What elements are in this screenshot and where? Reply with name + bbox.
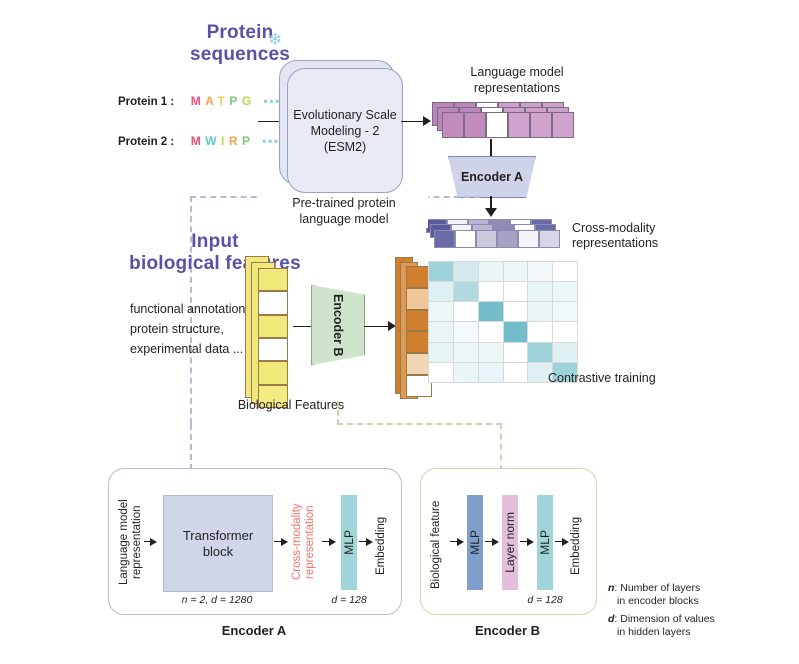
- encoder-b-input-label: Biological feature: [430, 495, 448, 595]
- matrix-cell: [429, 262, 453, 281]
- matrix-cell: [479, 363, 503, 382]
- encoder-b-layernorm-bar: Layer norm: [502, 495, 518, 590]
- encoder-b-dashed-right: [500, 423, 502, 471]
- arrow-b-4: [562, 538, 569, 546]
- label-feature-examples: functional annotation, protein structure…: [130, 299, 330, 359]
- encoder-b-mlp2-label: MLP: [539, 530, 552, 555]
- matrix-cell: [429, 302, 453, 321]
- matrix-cell: [553, 343, 577, 362]
- encoder-b-trapezoid[interactable]: Encoder B: [311, 285, 365, 365]
- transformer-block-label: Transformer block: [183, 528, 253, 560]
- legend: n: Number of layers in encoder blocks d:…: [608, 582, 788, 639]
- matrix-cell: [528, 302, 552, 321]
- protein-1-letters: MATPG: [191, 94, 264, 108]
- transformer-block-caption: n = 2, d = 1280: [163, 594, 271, 606]
- page-title-input-bio-features: Input biological features: [110, 231, 320, 275]
- matrix-cell: [528, 262, 552, 281]
- matrix-cell: [553, 262, 577, 281]
- arrow-a-3: [329, 538, 336, 546]
- encoder-b-mlp1-bar: MLP: [467, 495, 483, 590]
- matrix-cell: [504, 282, 528, 301]
- encoder-a-dashed-down: [190, 424, 192, 470]
- matrix-cell: [479, 322, 503, 341]
- legend-item-d: d: Dimension of values in hidden layers: [608, 613, 788, 639]
- matrix-cell: [553, 322, 577, 341]
- arrow-a-2: [281, 538, 288, 546]
- matrix-cell: [504, 262, 528, 281]
- encoder-a-label: Encoder A: [461, 170, 523, 184]
- matrix-cell: [553, 282, 577, 301]
- encoder-a-mlp-caption: d = 128: [316, 594, 382, 606]
- encoder-b-mlp2-caption: d = 128: [512, 594, 578, 606]
- matrix-cell: [553, 302, 577, 321]
- matrix-cell: [504, 302, 528, 321]
- encoder-b-dashed-top: [337, 423, 502, 425]
- arrow-b-2: [492, 538, 499, 546]
- matrix-cell: [429, 282, 453, 301]
- protein-2-label: Protein 2 :: [118, 136, 174, 148]
- encoder-a-cross-modality-label: Cross-modality representation: [291, 492, 319, 592]
- esm2-label: Evolutionary Scale Modeling - 2 (ESM2): [293, 107, 397, 155]
- connector-lm-to-encoder-a: [490, 139, 492, 156]
- connector-encoder-b-to-orange: [364, 326, 388, 327]
- matrix-cell: [429, 322, 453, 341]
- label-lm-representations: Language model representations: [432, 64, 602, 96]
- protein-2-letters: MWIRP: [191, 134, 262, 148]
- encoder-a-mlp-bar: MLP: [341, 495, 357, 590]
- matrix-cell: [479, 302, 503, 321]
- encoder-b-label: Encoder B: [331, 294, 345, 357]
- encoder-b-detail-title: Encoder B: [420, 623, 595, 638]
- label-biological-features: Biological Features: [216, 398, 366, 413]
- matrix-cell: [454, 282, 478, 301]
- arrow-b-1: [457, 538, 464, 546]
- encoder-b-output-label: Embedding: [570, 500, 590, 592]
- arrow-esm2-to-lm: [423, 116, 431, 126]
- matrix-cell: [479, 262, 503, 281]
- line-a-1: [144, 541, 152, 542]
- encoder-a-mlp-label: MLP: [343, 530, 356, 555]
- matrix-cell: [429, 343, 453, 362]
- matrix-cell: [479, 343, 503, 362]
- matrix-cell: [528, 343, 552, 362]
- matrix-cell: [429, 363, 453, 382]
- encoder-b-mlp2-bar: MLP: [537, 495, 553, 590]
- encoder-b-mlp1-label: MLP: [469, 530, 482, 555]
- matrix-cell: [454, 302, 478, 321]
- encoder-b-layernorm-label: Layer norm: [504, 512, 517, 573]
- transformer-block: Transformer block: [163, 495, 273, 592]
- matrix-cell: [504, 363, 528, 382]
- encoder-a-detail-title: Encoder A: [108, 623, 400, 638]
- cross-modality-strip: [434, 230, 560, 248]
- matrix-cell: [504, 322, 528, 341]
- protein-1-label: Protein 1 :: [118, 96, 174, 108]
- encoder-a-trapezoid[interactable]: Encoder A: [448, 156, 536, 198]
- label-pretrained-plm: Pre-trained protein language model: [260, 194, 428, 228]
- matrix-cell: [454, 363, 478, 382]
- bio-feature-column: [258, 268, 288, 408]
- matrix-cell: [479, 282, 503, 301]
- encoder-b-dashed-left: [337, 401, 339, 425]
- legend-text-n-2: in encoder blocks: [617, 595, 699, 607]
- snowflake-icon: ❄: [268, 30, 282, 50]
- encoder-a-output-label: Embedding: [375, 500, 395, 592]
- connector-esm2-to-lm: [401, 121, 423, 122]
- lm-representation-strip: [442, 112, 574, 138]
- encoder-a-input-label: Language model representation: [118, 492, 146, 592]
- legend-text-n: : Number of layers: [614, 582, 700, 594]
- matrix-cell: [454, 262, 478, 281]
- contrastive-matrix-heatmap: [428, 261, 578, 383]
- matrix-cell: [504, 343, 528, 362]
- legend-item-n: n: Number of layers in encoder blocks: [608, 582, 788, 608]
- matrix-cell: [454, 322, 478, 341]
- matrix-cell: [528, 322, 552, 341]
- legend-text-d-2: in hidden layers: [617, 626, 691, 638]
- arrow-encoder-a-down: [485, 208, 497, 217]
- label-contrastive-training: Contrastive training: [548, 371, 656, 386]
- matrix-cell: [528, 282, 552, 301]
- arrow-a-4: [366, 538, 373, 546]
- label-cross-modality-representations: Cross-modality representations: [572, 221, 742, 251]
- esm2-box: Evolutionary Scale Modeling - 2 (ESM2): [287, 68, 403, 193]
- arrow-b-3: [527, 538, 534, 546]
- matrix-cell: [454, 343, 478, 362]
- legend-text-d: : Dimension of values: [614, 613, 714, 625]
